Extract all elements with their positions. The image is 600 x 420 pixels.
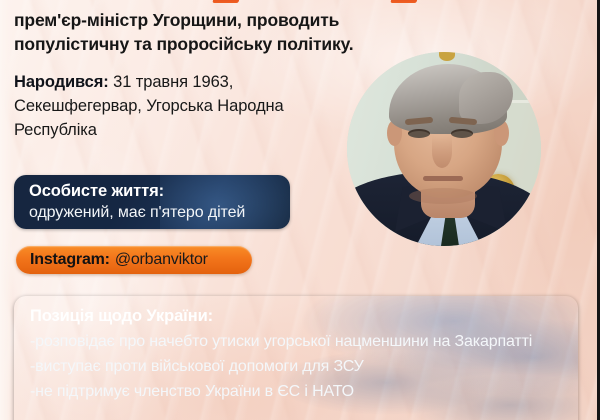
portrait-chin-shadow [409,188,477,204]
position-card-content: Позиція щодо України: -розповідає про на… [30,304,566,404]
instagram-label: Instagram: [30,251,110,269]
personal-life-card-content: Особисте життя: одружений, має п'ятеро д… [29,181,280,223]
portrait-eye-right [451,129,473,138]
position-title: Позиція щодо України: [30,304,566,328]
decor-mark-right-icon [390,0,419,3]
position-card: Позиція щодо України: -розповідає про на… [14,296,578,420]
position-line: -виступає проти військової допомоги для … [30,354,566,379]
personal-life-card: Особисте життя: одружений, має п'ятеро д… [14,175,290,229]
portrait-mouth [423,176,463,181]
personal-life-title: Особисте життя: [29,181,280,202]
portrait-nose [432,136,452,168]
portrait-scene [347,52,541,246]
intro-paragraph: прем'єр-міністр Угорщини, проводить попу… [14,8,452,56]
born-block: Народився: 31 травня 1963, Секешфегервар… [14,70,314,142]
position-line: -розповідає про начебто утиски угорської… [30,329,566,354]
instagram-handle[interactable]: @orbanviktor [115,251,208,269]
infographic-card: прем'єр-міністр Угорщини, проводить попу… [0,0,600,420]
personal-life-text: одружений, має п'ятеро дітей [29,202,280,223]
position-line: -не підтримує членство України в ЄС і НА… [30,379,566,404]
instagram-badge[interactable]: Instagram: @orbanviktor [16,246,252,274]
portrait-photo [347,52,541,246]
background-left-strip [0,0,13,420]
born-label: Народився: [14,73,109,91]
portrait-eye-left [408,129,430,138]
decor-mark-left-icon [212,0,241,3]
